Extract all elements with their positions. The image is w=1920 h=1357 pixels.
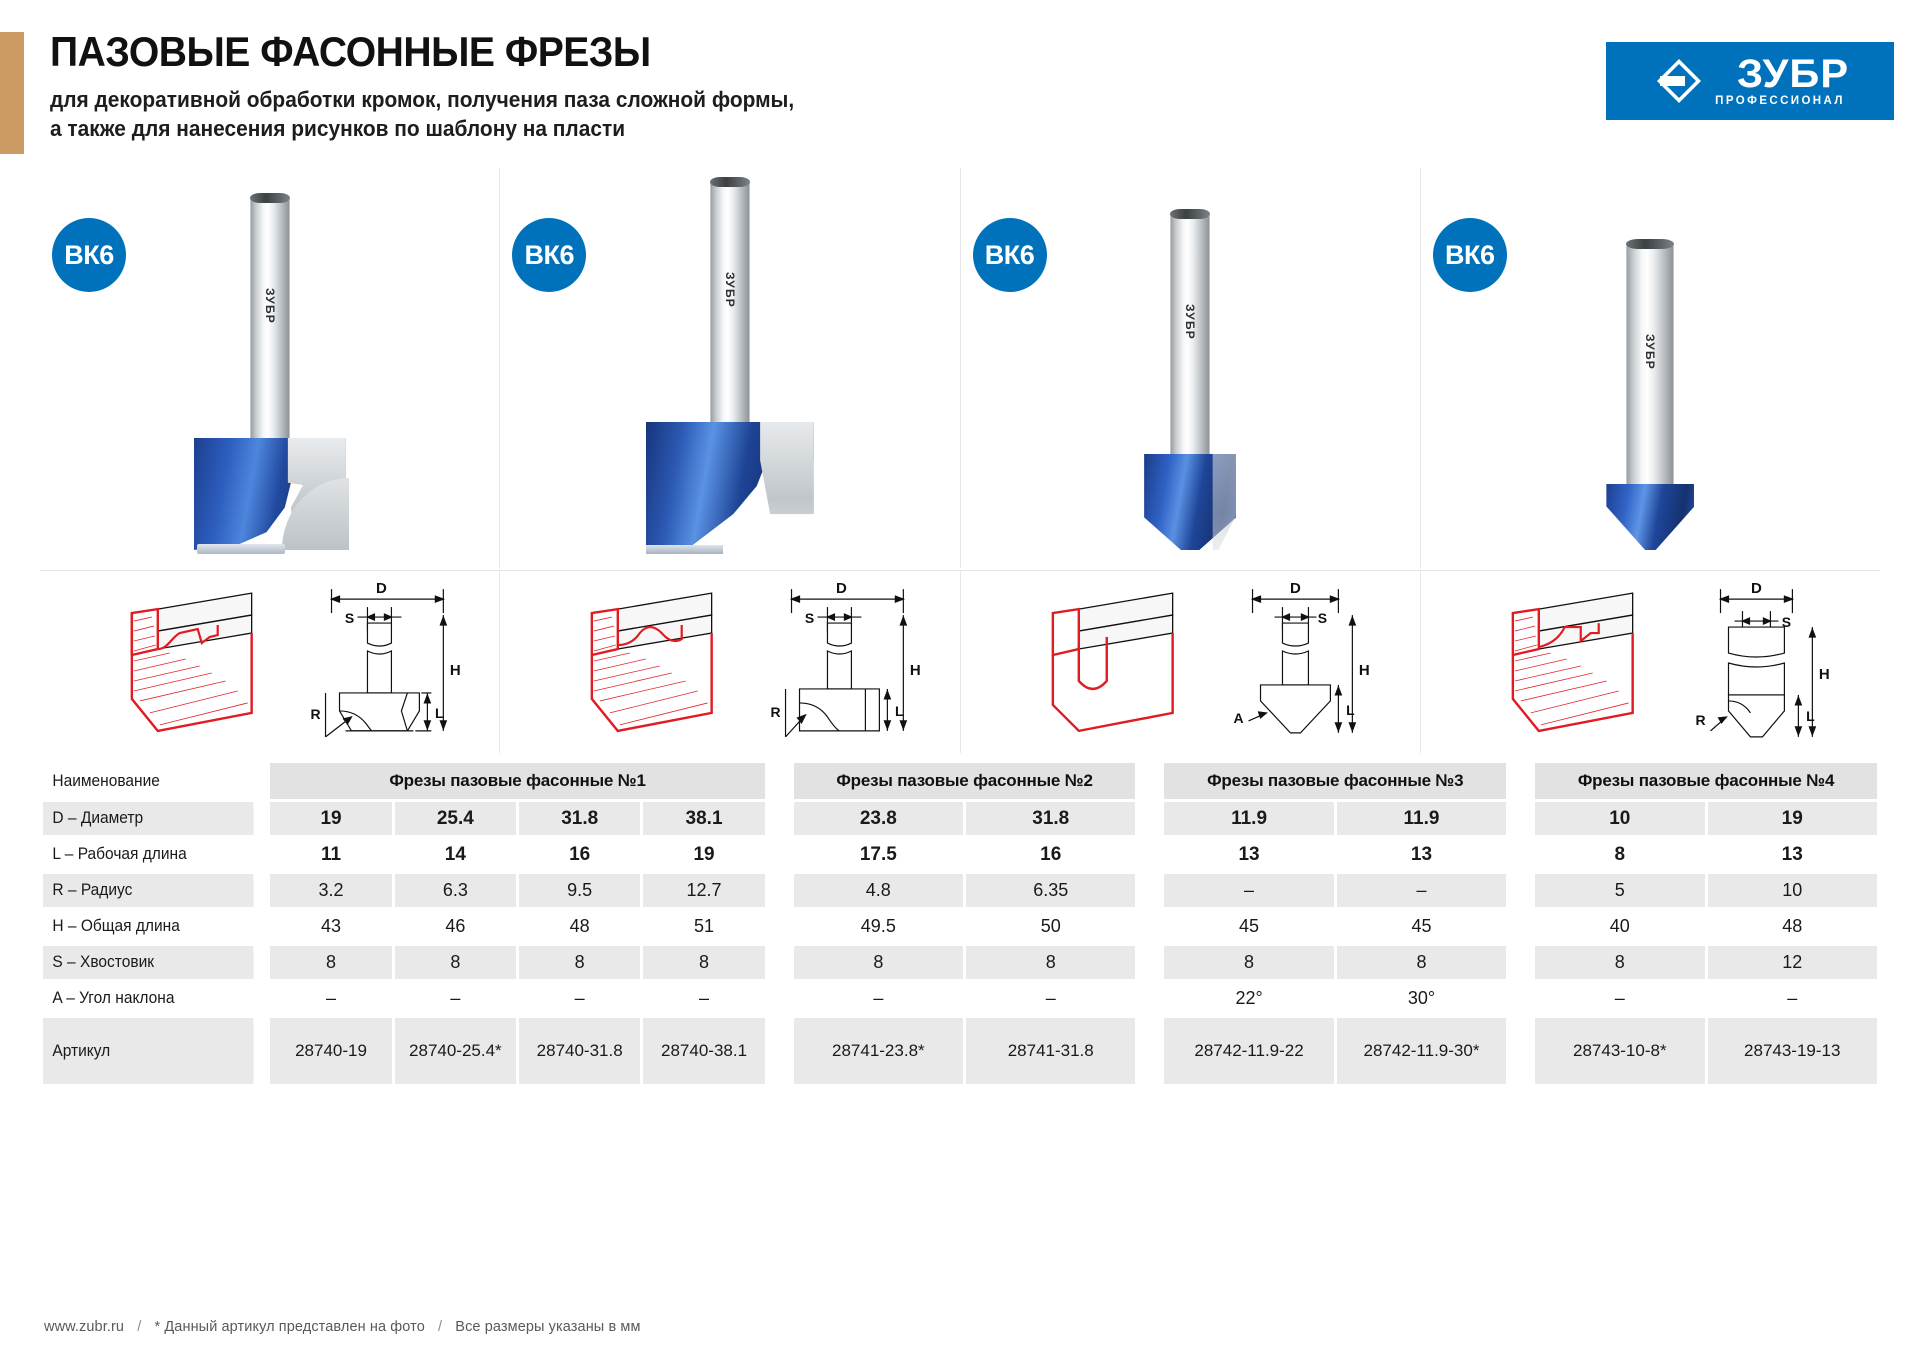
shank-top-face [710,177,750,187]
label-D: D [836,580,847,597]
bit-shank: ЗУБР [251,198,289,438]
profile-diagram-3: D S H L A [961,571,1420,753]
cell-l-4-2: 13 [1708,838,1878,871]
cell-a-1-2: – [395,982,516,1015]
cell-d-2-1: 23.8 [794,802,963,835]
technical-drawings-strip: D S H L R [40,570,1880,753]
product-photo-strip: ВК6 ЗУБР ВК6 ЗУБР ВК6 [40,168,1880,568]
footer-separator: / [429,1319,451,1335]
cell-r-1-4: 12.7 [643,874,764,907]
technical-drawing-2: D S H L R [500,571,960,753]
group-header-3: Фрезы пазовые фасонные №3 [1164,763,1506,799]
label-S: S [1781,614,1790,630]
group-gap [1138,763,1161,799]
page-footer: www.zubr.ru / * Данный артикул представл… [44,1319,641,1335]
technical-drawing-1: D S H L R [40,571,500,753]
cell-d-2-2: 31.8 [966,802,1135,835]
cell-h-1-3: 48 [519,910,640,943]
table-name-header: Наименование [43,763,254,799]
cell-art-3-2: 28742-11.9-30* [1337,1018,1506,1084]
cell-s-4-1: 8 [1535,946,1704,979]
cell-art-2-1: 28741-23.8* [794,1018,963,1084]
cell-l-2-1: 17.5 [794,838,963,871]
cell-s-1-1: 8 [270,946,391,979]
specifications-table-wrap: Наименование Фрезы пазовые фасонные №1 Ф… [40,760,1880,1087]
row-label-article: Артикул [43,1018,254,1084]
cell-a-1-1: – [270,982,391,1015]
router-bit-image-2: ЗУБР [646,182,814,550]
page-header: ПАЗОВЫЕ ФАСОННЫЕ ФРЕЗЫ для декоративной … [50,30,1200,143]
shank-top-face [250,193,290,203]
row-label-total-length: H – Общая длина [43,910,254,943]
label-H: H [910,662,921,679]
row-label-shank: S – Хвостовик [43,946,254,979]
cell-a-3-1: 22° [1164,982,1333,1015]
label-R: R [1695,712,1705,728]
table-row-angle: A – Угол наклона – – – – – – 22° 30° – – [43,982,1877,1015]
cell-a-4-2: – [1708,982,1878,1015]
bit-cutting-head [1144,454,1236,550]
cell-l-1-4: 19 [643,838,764,871]
group-header-1: Фрезы пазовые фасонные №1 [270,763,764,799]
cell-art-1-1: 28740-19 [270,1018,391,1084]
technical-drawing-4: D S H L R [1421,571,1880,753]
profile-diagram-1: D S H L R [40,571,499,753]
cell-s-3-2: 8 [1337,946,1506,979]
cell-r-4-2: 10 [1708,874,1878,907]
label-H: H [1358,662,1369,679]
cell-h-1-1: 43 [270,910,391,943]
cell-art-1-4: 28740-38.1 [643,1018,764,1084]
page-title: ПАЗОВЫЕ ФАСОННЫЕ ФРЕЗЫ [50,30,1120,75]
cell-r-4-1: 5 [1535,874,1704,907]
cell-d-4-1: 10 [1535,802,1704,835]
bit-shank: ЗУБР [1171,214,1209,454]
label-A: A [1233,710,1243,726]
cell-l-1-3: 16 [519,838,640,871]
router-bit-image-4: ЗУБР [1606,244,1694,550]
cell-a-3-2: 30° [1337,982,1506,1015]
footer-note: * Данный артикул представлен на фото [155,1319,425,1335]
cell-l-4-1: 8 [1535,838,1704,871]
cell-r-2-2: 6.35 [966,874,1135,907]
label-H: H [450,662,461,679]
shank-brand-mark: ЗУБР [723,272,737,308]
cell-a-1-4: – [643,982,764,1015]
bit-shank: ЗУБР [1627,244,1673,484]
cell-l-2-2: 16 [966,838,1135,871]
footer-website[interactable]: www.zubr.ru [44,1319,124,1335]
cell-h-2-1: 49.5 [794,910,963,943]
table-row-working-length: L – Рабочая длина 11 14 16 19 17.5 16 13… [43,838,1877,871]
table-row-total-length: H – Общая длина 43 46 48 51 49.5 50 45 4… [43,910,1877,943]
label-D: D [376,580,387,597]
table-group-header-row: Наименование Фрезы пазовые фасонные №1 Ф… [43,763,1877,799]
group-header-4: Фрезы пазовые фасонные №4 [1535,763,1877,799]
cell-r-2-1: 4.8 [794,874,963,907]
cell-d-1-2: 25.4 [395,802,516,835]
cell-s-2-2: 8 [966,946,1135,979]
label-S: S [345,610,354,626]
cell-h-1-2: 46 [395,910,516,943]
cell-h-2-2: 50 [966,910,1135,943]
shank-top-face [1170,209,1210,219]
cell-d-4-2: 19 [1708,802,1878,835]
logo-tagline: ПРОФЕССИОНАЛ [1715,95,1845,107]
cell-d-1-4: 38.1 [643,802,764,835]
row-label-radius: R – Радиус [43,874,254,907]
label-R: R [311,706,321,722]
cell-s-1-3: 8 [519,946,640,979]
cell-a-4-1: – [1535,982,1704,1015]
label-H: H [1819,666,1830,683]
product-photo-1: ВК6 ЗУБР [40,168,500,568]
cell-h-4-1: 40 [1535,910,1704,943]
cell-a-1-3: – [519,982,640,1015]
footer-separator: / [128,1319,150,1335]
cell-d-1-1: 19 [270,802,391,835]
carbide-grade-badge: ВК6 [973,218,1047,292]
cell-s-3-1: 8 [1164,946,1333,979]
cell-l-3-2: 13 [1337,838,1506,871]
footer-units: Все размеры указаны в мм [455,1319,640,1335]
cell-art-4-2: 28743-19-13 [1708,1018,1878,1084]
row-label-angle: A – Угол наклона [43,982,254,1015]
label-S: S [805,610,814,626]
group-gap [1509,763,1532,799]
label-S: S [1317,610,1326,626]
profile-diagram-4: D S H L R [1421,571,1880,753]
carbide-grade-badge: ВК6 [52,218,126,292]
shank-brand-mark: ЗУБР [1643,334,1657,370]
carbide-grade-badge: ВК6 [512,218,586,292]
cell-a-2-1: – [794,982,963,1015]
row-label-diameter: D – Диаметр [43,802,254,835]
cell-r-1-2: 6.3 [395,874,516,907]
label-L: L [435,705,444,721]
specifications-table: Наименование Фрезы пазовые фасонные №1 Ф… [40,760,1880,1087]
subtitle-line-1: для декоративной обработки кромок, получ… [50,85,1143,114]
cell-d-3-2: 11.9 [1337,802,1506,835]
shank-brand-mark: ЗУБР [1183,304,1197,340]
product-photo-2: ВК6 ЗУБР [500,168,960,568]
cell-l-3-1: 13 [1164,838,1333,871]
cell-art-3-1: 28742-11.9-22 [1164,1018,1333,1084]
page-subtitle: для декоративной обработки кромок, получ… [50,85,1143,143]
cell-h-4-2: 48 [1708,910,1878,943]
brand-logo: ЗУБР ПРОФЕССИОНАЛ [1606,42,1894,120]
cell-h-3-1: 45 [1164,910,1333,943]
zubr-diamond-arrow-icon [1655,57,1703,105]
cell-h-3-2: 45 [1337,910,1506,943]
cell-a-2-2: – [966,982,1135,1015]
cell-l-1-2: 14 [395,838,516,871]
product-photo-4: ВК6 ЗУБР [1421,168,1880,568]
label-D: D [1290,580,1301,597]
label-L: L [895,703,904,719]
cell-d-1-3: 31.8 [519,802,640,835]
row-label-working-length: L – Рабочая длина [43,838,254,871]
table-row-radius: R – Радиус 3.2 6.3 9.5 12.7 4.8 6.35 – –… [43,874,1877,907]
bit-cutting-head [194,438,346,550]
cell-s-2-1: 8 [794,946,963,979]
cell-s-4-2: 12 [1708,946,1878,979]
shank-brand-mark: ЗУБР [263,288,277,324]
subtitle-line-2: а также для нанесения рисунков по шаблон… [50,114,1143,143]
cell-r-1-1: 3.2 [270,874,391,907]
label-R: R [771,704,781,720]
cell-s-1-2: 8 [395,946,516,979]
accent-bar [0,32,24,154]
technical-drawing-3: D S H L A [961,571,1421,753]
cell-r-3-1: – [1164,874,1333,907]
cell-art-2-2: 28741-31.8 [966,1018,1135,1084]
bit-cutting-head [1606,484,1694,550]
group-header-2: Фрезы пазовые фасонные №2 [794,763,1136,799]
table-row-article: Артикул 28740-19 28740-25.4* 28740-31.8 … [43,1018,1877,1084]
product-photo-3: ВК6 ЗУБР [961,168,1421,568]
cell-r-1-3: 9.5 [519,874,640,907]
cell-art-4-1: 28743-10-8* [1535,1018,1704,1084]
cell-d-3-1: 11.9 [1164,802,1333,835]
cell-r-3-2: – [1337,874,1506,907]
cell-l-1-1: 11 [270,838,391,871]
group-gap [768,763,791,799]
shank-top-face [1626,239,1674,249]
cell-art-1-3: 28740-31.8 [519,1018,640,1084]
table-row-diameter: D – Диаметр 19 25.4 31.8 38.1 23.8 31.8 … [43,802,1877,835]
profile-diagram-2: D S H L R [500,571,959,753]
logo-wordmark: ЗУБР [1737,55,1849,93]
label-D: D [1751,580,1762,597]
label-L: L [1346,702,1355,718]
cell-art-1-2: 28740-25.4* [395,1018,516,1084]
router-bit-image-1: ЗУБР [194,198,346,550]
table-row-shank: S – Хвостовик 8 8 8 8 8 8 8 8 8 12 [43,946,1877,979]
bit-shank: ЗУБР [711,182,749,422]
label-L: L [1806,708,1815,724]
router-bit-image-3: ЗУБР [1144,214,1236,550]
bit-cutting-head [646,422,814,550]
cell-h-1-4: 51 [643,910,764,943]
carbide-grade-badge: ВК6 [1433,218,1507,292]
cell-s-1-4: 8 [643,946,764,979]
